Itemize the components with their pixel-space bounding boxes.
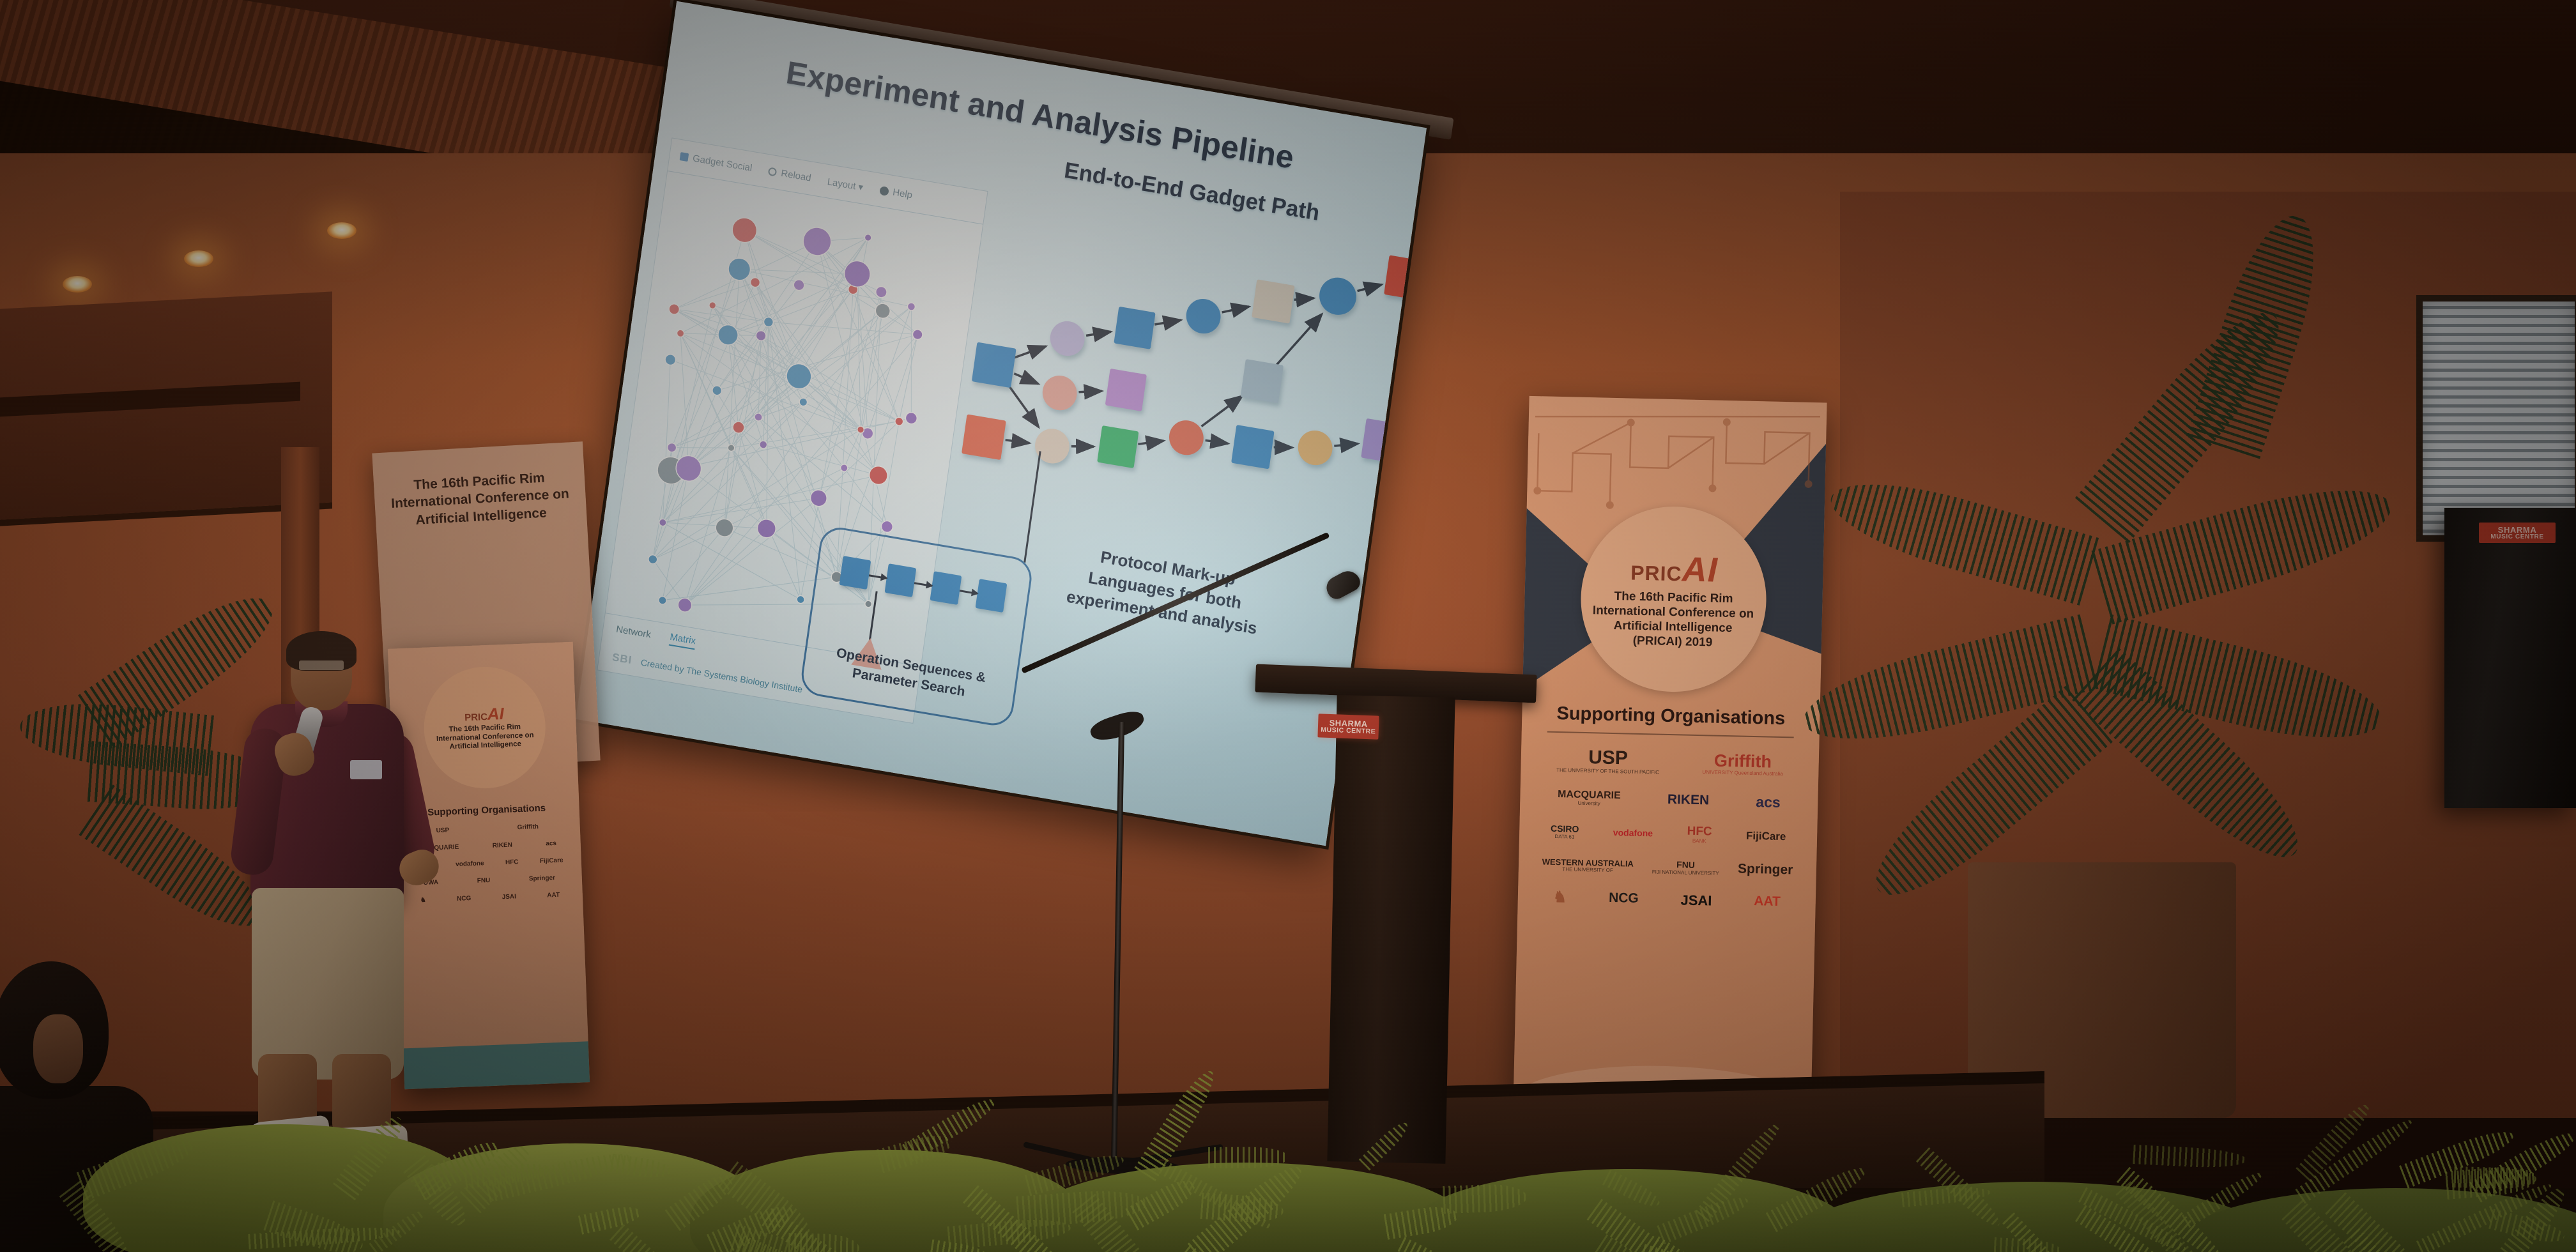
sponsor-logo-3-0: WESTERN AUSTRALIATHE UNIVERSITY OF (1542, 857, 1634, 874)
ceiling-downlight-2 (184, 250, 213, 267)
operation-block-2 (885, 563, 917, 597)
pa-speaker-cabinet (2444, 508, 2576, 808)
network-node-11[interactable] (759, 440, 767, 449)
sponsor-subtitle: UNIVERSITY Queensland Australia (1702, 769, 1782, 777)
pricai-banner-title: The 16th Pacific Rim International Confe… (1580, 588, 1767, 651)
operation-arrow-2 (914, 582, 932, 587)
left-sponsor-logo-3-1: FNU (477, 877, 491, 885)
sponsor-logo-grid: USPTHE UNIVERSITY OF THE SOUTH PACIFICGr… (1534, 746, 1802, 927)
network-node-7[interactable] (677, 329, 685, 337)
sponsor-name: RIKEN (1667, 793, 1710, 808)
toolbar-label-layout: Layout ▾ (827, 176, 864, 193)
network-node-44[interactable] (840, 464, 848, 472)
projection-screen-assembly: Experiment and Analysis Pipeline End-to-… (574, 0, 1435, 863)
sponsor-subtitle: DATA 61 (1551, 833, 1579, 839)
left-sponsor-logo-4-2: JSAI (502, 893, 517, 901)
toolbar-item-layout[interactable]: Layout ▾ (827, 176, 864, 193)
sponsor-logo-2-3: FijiCare (1746, 830, 1786, 843)
left-banner-logo-circle: PRICAI The 16th Pacific Rim Internationa… (422, 665, 548, 791)
sponsor-row-4: ♞NCGJSAIAAT (1535, 889, 1799, 911)
ceiling-downlight-3 (327, 222, 356, 239)
toolbar-label-reload: Reload (780, 168, 811, 184)
left-sponsor-logo-2-2: HFC (505, 859, 519, 866)
sponsor-name: vodafone (1613, 828, 1653, 838)
network-node-36[interactable] (731, 216, 758, 244)
sponsor-logo-3-2: Springer (1738, 862, 1793, 878)
operation-block-3 (930, 571, 962, 605)
gadget-node-10 (1252, 279, 1295, 323)
network-node-28[interactable] (750, 277, 761, 288)
left-sponsor-logo-3-2: Springer (529, 874, 556, 883)
left-sponsor-logo-0-0: USP (436, 827, 449, 834)
network-node-39[interactable] (843, 259, 872, 289)
pricai-wordmark: PRICAI (1630, 548, 1719, 590)
left-sponsor-logo-4-3: AAT (547, 892, 560, 899)
network-node-16[interactable] (668, 303, 680, 316)
podium-label-line2: MUSIC CENTRE (1321, 726, 1376, 735)
projected-slide: Experiment and Analysis Pipeline End-to-… (576, 1, 1427, 846)
sponsor-logo-2-0: CSIRODATA 61 (1551, 824, 1579, 840)
conference-presentation-scene: SHARMA MUSIC CENTRE Experiment and Analy… (0, 0, 2576, 1252)
left-sponsor-logo-2-3: FijiCare (540, 857, 563, 865)
supporting-organisations-heading: Supporting Organisations (1522, 703, 1820, 731)
pricai-logo-text: PRIC (1630, 561, 1682, 585)
sponsor-logo-0-1: GriffithUNIVERSITY Queensland Australia (1702, 751, 1783, 777)
supporting-heading-rule (1547, 731, 1794, 738)
pa-label-line2: MUSIC CENTRE (2490, 534, 2543, 540)
podium-body (1327, 695, 1455, 1164)
toolbar-item-reload[interactable]: Reload (768, 165, 812, 183)
presenter-glasses (299, 660, 344, 670)
gadget-node-11 (1241, 359, 1284, 403)
sponsor-subtitle: THE UNIVERSITY OF (1542, 866, 1633, 874)
help-icon (879, 185, 889, 195)
sponsor-name: AAT (1754, 895, 1781, 910)
operation-arrow-1 (869, 574, 887, 579)
left-sponsor-logo-1-1: RIKEN (493, 842, 513, 850)
sponsor-logo-1-1: RIKEN (1667, 793, 1710, 808)
sponsor-name: CSIRO (1551, 824, 1579, 834)
network-node-8[interactable] (714, 517, 734, 538)
podium-brand-label: SHARMA MUSIC CENTRE (1317, 714, 1379, 739)
sponsor-name: Springer (1738, 862, 1793, 878)
sponsor-logo-1-0: MACQUARIEUniversity (1558, 790, 1621, 807)
tab-network[interactable]: Network (615, 623, 652, 640)
left-sponsor-logo-4-1: NCG (457, 895, 471, 903)
toolbar-label-help: Help (892, 187, 913, 201)
operation-block-1 (839, 556, 871, 590)
gadget-node-12 (1231, 425, 1275, 469)
operation-arrow-3 (960, 590, 977, 595)
gadget-path-diagram (957, 183, 1390, 553)
network-node-38[interactable] (727, 257, 752, 282)
operation-box-caption: Operation Sequences & Parameter Search (816, 641, 1004, 706)
gadget-node-7 (1097, 425, 1138, 468)
operation-block-row (839, 556, 1008, 613)
network-node-15[interactable] (809, 489, 828, 508)
network-node-32[interactable] (905, 411, 917, 425)
sponsor-name: HFC (1687, 825, 1712, 839)
pricai-logo-ai: AI (1682, 550, 1718, 589)
sponsor-name: Griffith (1703, 751, 1784, 771)
network-node-20[interactable] (756, 518, 777, 539)
gadget-node-6 (1105, 369, 1147, 411)
network-node-18[interactable] (728, 444, 735, 452)
network-node-26[interactable] (907, 302, 916, 311)
window-frame (2416, 295, 2576, 542)
sponsor-row-2: CSIRODATA 61vodafoneHFCBANKFijiCare (1536, 822, 1801, 846)
network-node-19[interactable] (793, 279, 805, 291)
sponsor-logo-3-1: FNUFIJI NATIONAL UNIVERSITY (1652, 860, 1719, 876)
left-sponsor-logo-0-1: Griffith (517, 823, 539, 831)
tab-matrix[interactable]: Matrix (669, 631, 696, 650)
sponsor-subtitle: BANK (1687, 838, 1712, 844)
network-node-37[interactable] (664, 354, 677, 366)
pa-speaker-brand-label: SHARMA MUSIC CENTRE (2479, 523, 2556, 543)
sponsor-row-3: WESTERN AUSTRALIATHE UNIVERSITY OFFNUFIJ… (1535, 857, 1800, 878)
presenter-name-badge (350, 760, 382, 779)
operation-block-4 (976, 579, 1008, 613)
network-node-40[interactable] (709, 302, 716, 309)
sponsor-name: NCG (1609, 891, 1639, 906)
sponsor-name: FijiCare (1746, 830, 1786, 843)
sponsor-logo-0-0: USPTHE UNIVERSITY OF THE SOUTH PACIFIC (1556, 747, 1660, 775)
ceiling-downlight-1 (63, 276, 92, 293)
left-banner-logo-ai: AI (487, 704, 504, 724)
sponsor-row-1: MACQUARIEUniversityRIKENacs (1537, 789, 1801, 811)
left-sponsor-row-4: ♞NCGJSAIAAT (406, 891, 574, 905)
network-node-4[interactable] (667, 443, 677, 453)
sponsor-subtitle: University (1558, 800, 1621, 807)
network-node-31[interactable] (763, 316, 774, 327)
gadget-path-arrows (957, 183, 1390, 553)
left-banner-circle-title: The 16th Pacific Rim International Confe… (424, 722, 546, 753)
left-sponsor-logo-1-2: acs (546, 840, 556, 848)
sponsor-logo-4-2: JSAI (1680, 892, 1712, 908)
left-banner-logo-text: PRIC (464, 712, 487, 723)
presenter-shorts (252, 888, 404, 1080)
parameter-search-stem (869, 591, 878, 641)
operation-sequence-box: Operation Sequences & Parameter Search (799, 524, 1034, 728)
left-sponsor-logo-2-1: vodafone (456, 860, 484, 868)
sponsor-logo-4-1: NCG (1609, 891, 1639, 906)
left-sponsor-logo-4-0: ♞ (420, 897, 426, 904)
toolbar-item-gadget-social[interactable]: Gadget Social (679, 151, 753, 174)
sponsor-name: USP (1556, 747, 1660, 769)
sponsor-logo-2-2: HFCBANK (1687, 825, 1712, 844)
sponsor-logo-4-3: AAT (1754, 895, 1781, 910)
sponsor-logo-2-1: vodafone (1613, 828, 1653, 838)
sponsor-name: JSAI (1680, 892, 1712, 908)
gadget-node-5 (1114, 307, 1155, 349)
network-node-2[interactable] (677, 597, 693, 613)
pa-label-line1: SHARMA (2498, 526, 2537, 534)
toolbar-label-gadget-social: Gadget Social (692, 153, 753, 174)
left-banner-foot-band (403, 1041, 590, 1089)
pricai-banner: PRICAI The 16th Pacific Rim Internationa… (1512, 396, 1827, 1169)
audience-member-face (33, 1014, 83, 1083)
network-node-14[interactable] (796, 595, 804, 604)
left-banner-title: The 16th Pacific Rim International Confe… (372, 441, 586, 531)
network-node-10[interactable] (868, 465, 889, 486)
sponsor-row-0: USPTHE UNIVERSITY OF THE SOUTH PACIFICGr… (1537, 746, 1802, 778)
sbi-logo-icon: SBI (611, 651, 633, 667)
toolbar-item-help[interactable]: Help (879, 185, 914, 201)
reload-icon (768, 167, 778, 176)
gadget-node-0 (972, 342, 1016, 388)
gadget-node-1 (962, 414, 1006, 460)
sponsor-logo-4-0: ♞ (1553, 889, 1567, 906)
presenter-right-leg (332, 1054, 391, 1134)
protocol-markup-note: Protocol Mark-up Languages for both expe… (1056, 540, 1273, 641)
app-logo-icon (680, 152, 689, 162)
sponsor-subtitle: FIJI NATIONAL UNIVERSITY (1652, 869, 1719, 876)
sponsor-name: acs (1756, 794, 1781, 810)
foreground-frond (2133, 1145, 2247, 1170)
sponsor-name: ♞ (1553, 889, 1567, 906)
sponsor-logo-1-2: acs (1756, 794, 1781, 810)
network-node-41[interactable] (864, 234, 872, 241)
